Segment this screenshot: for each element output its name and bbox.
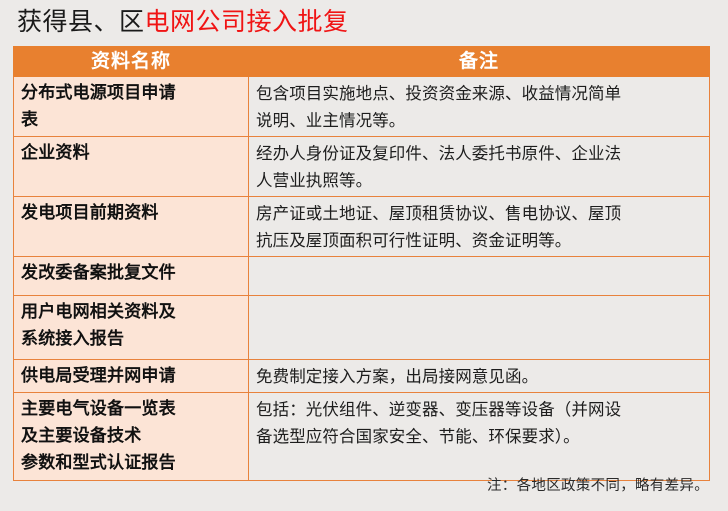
cell-material-name: 用户电网相关资料及系统接入报告 [14,296,249,360]
table-row: 发电项目前期资料房产证或土地证、屋顶租赁协议、售电协议、屋顶抗压及屋顶面积可行性… [14,197,710,257]
table-row: 分布式电源项目申请表包含项目实施地点、投资资金来源、收益情况简单说明、业主情况等… [14,77,710,137]
remarks-line: 说明、业主情况等。 [256,107,703,134]
material-name-line: 供电局受理并网申请 [21,363,242,390]
page-title-black-segment: 获得县、区 [17,7,145,36]
material-name-line: 企业资料 [21,140,242,167]
remarks-line: 人营业执照等。 [256,167,703,194]
page-title: 获得县、区电网公司接入批复 [17,4,349,40]
column-header-material-name: 资料名称 [14,47,249,77]
table-header-row: 资料名称 备注 [14,47,710,77]
cell-material-name: 供电局受理并网申请 [14,360,249,393]
cell-remarks: 房产证或土地证、屋顶租赁协议、售电协议、屋顶抗压及屋顶面积可行性证明、资金证明等… [249,197,710,257]
table-row: 发改委备案批复文件 [14,257,710,296]
material-name-line: 发电项目前期资料 [21,200,242,227]
cell-material-name: 企业资料 [14,137,249,197]
remarks-line: 备选型应符合国家安全、节能、环保要求）。 [256,423,703,450]
footer-note: 注：各地区政策不同，略有差异。 [487,474,709,495]
remarks-line: 房产证或土地证、屋顶租赁协议、售电协议、屋顶 [256,200,703,227]
material-name-line: 发改委备案批复文件 [21,260,242,287]
column-header-remarks: 备注 [249,47,710,77]
remarks-line: 抗压及屋顶面积可行性证明、资金证明等。 [256,227,703,254]
remarks-line: 包括：光伏组件、逆变器、变压器等设备（并网设 [256,396,703,423]
cell-material-name: 分布式电源项目申请表 [14,77,249,137]
material-name-line: 及主要设备技术 [21,423,242,450]
material-name-line: 用户电网相关资料及 [21,299,242,326]
cell-remarks: 包含项目实施地点、投资资金来源、收益情况简单说明、业主情况等。 [249,77,710,137]
material-name-line: 分布式电源项目申请 [21,80,242,107]
cell-material-name: 发电项目前期资料 [14,197,249,257]
material-name-line: 主要电气设备一览表 [21,396,242,423]
table-header: 资料名称 备注 [14,47,710,77]
table-row: 企业资料经办人身份证及复印件、法人委托书原件、企业法人营业执照等。 [14,137,710,197]
cell-remarks: 经办人身份证及复印件、法人委托书原件、企业法人营业执照等。 [249,137,710,197]
table-row: 用户电网相关资料及系统接入报告 [14,296,710,360]
material-name-line: 参数和型式认证报告 [21,450,242,477]
table-row: 主要电气设备一览表及主要设备技术参数和型式认证报告包括：光伏组件、逆变器、变压器… [14,393,710,481]
remarks-line: 经办人身份证及复印件、法人委托书原件、企业法 [256,140,703,167]
cell-remarks: 包括：光伏组件、逆变器、变压器等设备（并网设备选型应符合国家安全、节能、环保要求… [249,393,710,481]
cell-material-name: 发改委备案批复文件 [14,257,249,296]
remarks-line: 包含项目实施地点、投资资金来源、收益情况简单 [256,80,703,107]
remarks-line: 免费制定接入方案，出局接网意见函。 [256,363,703,390]
materials-table: 资料名称 备注 分布式电源项目申请表包含项目实施地点、投资资金来源、收益情况简单… [13,46,710,481]
page-title-red-segment: 电网公司接入批复 [145,7,349,36]
table-row: 供电局受理并网申请免费制定接入方案，出局接网意见函。 [14,360,710,393]
table-body: 分布式电源项目申请表包含项目实施地点、投资资金来源、收益情况简单说明、业主情况等… [14,77,710,481]
material-name-line: 表 [21,107,242,134]
cell-remarks: 免费制定接入方案，出局接网意见函。 [249,360,710,393]
cell-remarks [249,257,710,296]
cell-material-name: 主要电气设备一览表及主要设备技术参数和型式认证报告 [14,393,249,481]
cell-remarks [249,296,710,360]
material-name-line: 系统接入报告 [21,326,242,353]
